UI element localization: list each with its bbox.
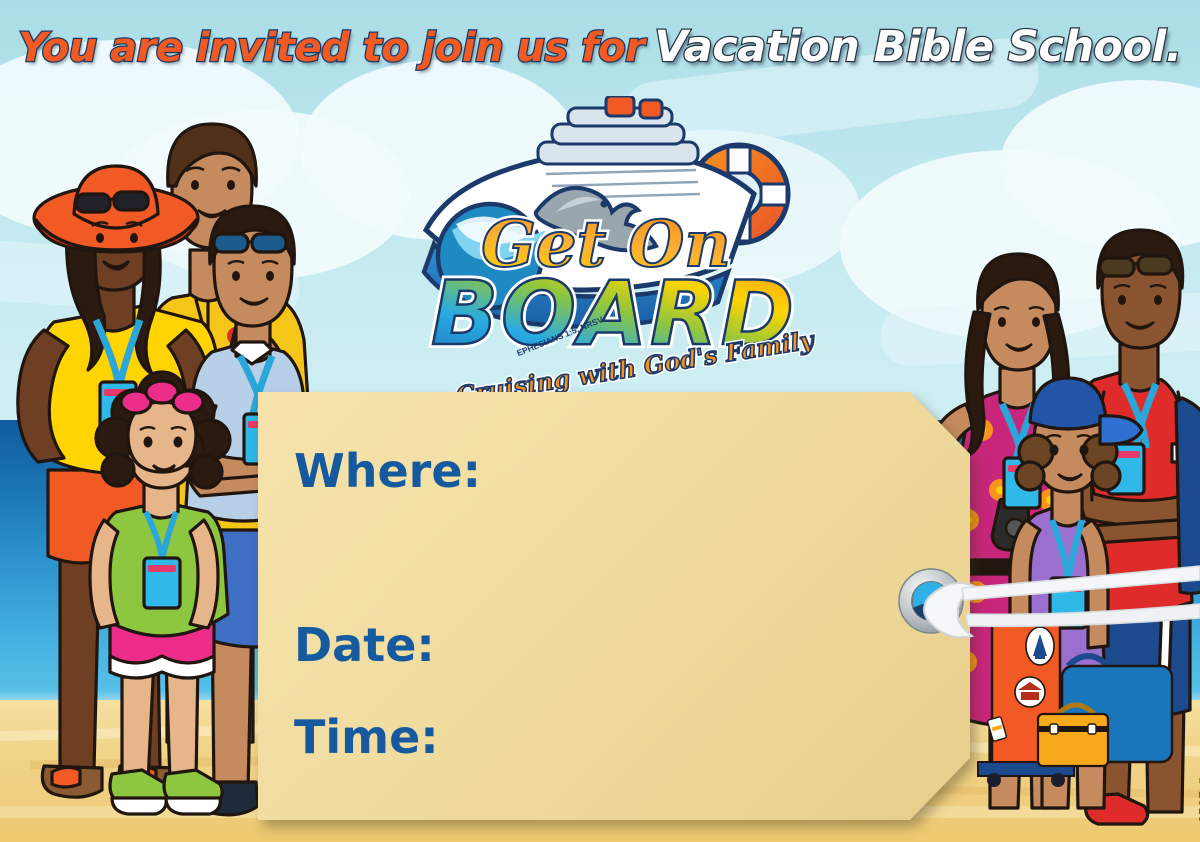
tag-field-where[interactable]: Where: bbox=[294, 448, 481, 494]
svg-text:Get On: Get On bbox=[481, 207, 731, 282]
headline-event: Vacation Bible School. bbox=[654, 22, 1181, 72]
tag-field-time[interactable]: Time: bbox=[294, 714, 439, 760]
copyright-notice: © 2019 bbox=[1196, 776, 1200, 824]
luggage-tag-card: Where: Date: Time: bbox=[258, 392, 970, 820]
flyer-canvas: .ol{stroke:#20160f;stroke-width:3.2;stro… bbox=[0, 0, 1200, 842]
headline-lead: You are invited to join us for bbox=[18, 25, 644, 71]
page-title: You are invited to join us forVacation B… bbox=[0, 22, 1200, 72]
tag-field-date[interactable]: Date: bbox=[294, 622, 435, 668]
get-on-board-logo: BOARD BOARD Get On Get On EPHESIANS 1:5,… bbox=[418, 96, 818, 396]
tag-string bbox=[900, 540, 1200, 660]
